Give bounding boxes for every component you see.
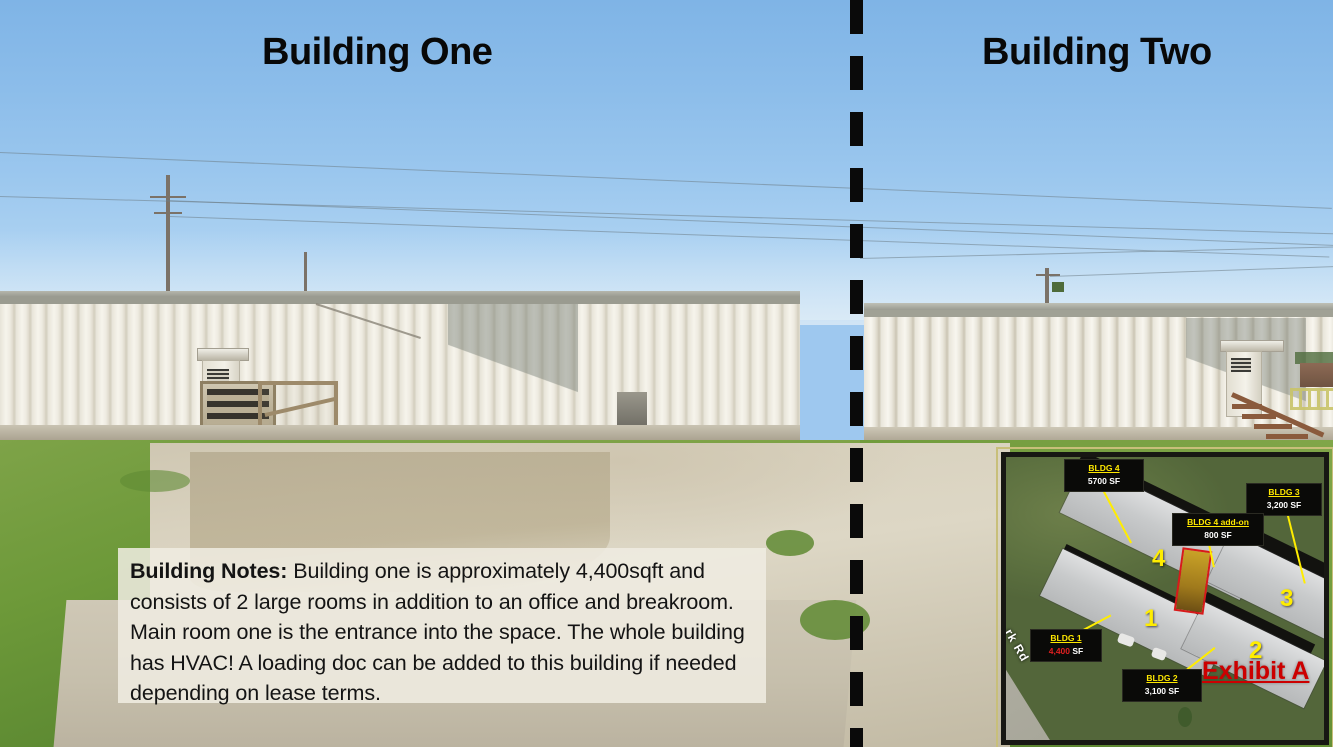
callout-bldg-2-title: BLDG 2 xyxy=(1129,673,1195,684)
callout-bldg-4: BLDG 4 5700 SF xyxy=(1064,459,1144,492)
building-one-wall-shadow xyxy=(448,304,578,432)
callout-bldg-1-area: 4,400 SF xyxy=(1037,646,1095,657)
distant-barn xyxy=(1300,363,1333,387)
pole-light-fixture xyxy=(1052,282,1064,292)
callout-bldg-1-title: BLDG 1 xyxy=(1037,633,1095,644)
page-title-building-one: Building One xyxy=(262,26,492,78)
building-two-door-vent xyxy=(1231,358,1251,372)
building-notes-box: Building Notes: Building one is approxim… xyxy=(118,548,766,703)
callout-bldg-3: BLDG 3 3,200 SF xyxy=(1246,483,1322,516)
aerial-road-label: rk Rd xyxy=(1002,627,1032,665)
callout-bldg-4-addon: BLDG 4 add-on 800 SF xyxy=(1172,513,1264,546)
aerial-number-1: 1 xyxy=(1144,605,1157,633)
building-one-facade xyxy=(0,297,800,442)
building-notes-label: Building Notes: xyxy=(130,559,287,583)
callout-bldg-2: BLDG 2 3,100 SF xyxy=(1122,669,1202,702)
callout-bldg-1: BLDG 1 4,400 SF xyxy=(1030,629,1102,662)
vertical-dashed-divider xyxy=(850,0,863,747)
callout-bldg-3-area: 3,200 SF xyxy=(1253,500,1315,511)
callout-bldg-4-addon-area: 800 SF xyxy=(1179,530,1257,541)
aerial-number-4: 4 xyxy=(1152,545,1165,573)
callout-bldg-3-title: BLDG 3 xyxy=(1253,487,1315,498)
aerial-number-3: 3 xyxy=(1280,585,1293,613)
utility-pole-left xyxy=(166,175,170,300)
callout-bldg-4-title: BLDG 4 xyxy=(1071,463,1137,474)
callout-bldg-4-addon-title: BLDG 4 add-on xyxy=(1179,517,1257,528)
building-one-hvac-unit xyxy=(617,392,647,428)
property-exhibit-image: Building One Building Two Building Notes… xyxy=(0,0,1333,747)
callout-bldg-1-area-number: 4,400 xyxy=(1049,646,1070,656)
distant-yellow-fence xyxy=(1290,388,1333,410)
utility-pole-left-crossarm-2 xyxy=(154,212,182,214)
grass-tuft-3 xyxy=(120,470,190,492)
aerial-site-map-inset[interactable]: rk Rd 4 1 3 2 BLDG 4 5700 SF xyxy=(1001,452,1329,745)
callout-bldg-2-area: 3,100 SF xyxy=(1129,686,1195,697)
grass-tuft-1 xyxy=(766,530,814,556)
page-title-building-two: Building Two xyxy=(982,26,1212,78)
aerial-tree-1 xyxy=(1178,707,1192,727)
callout-bldg-1-area-unit: SF xyxy=(1070,646,1083,656)
exhibit-a-label: Exhibit A xyxy=(1202,657,1309,686)
utility-pole-left-crossarm xyxy=(150,196,186,198)
callout-bldg-4-area: 5700 SF xyxy=(1071,476,1137,487)
